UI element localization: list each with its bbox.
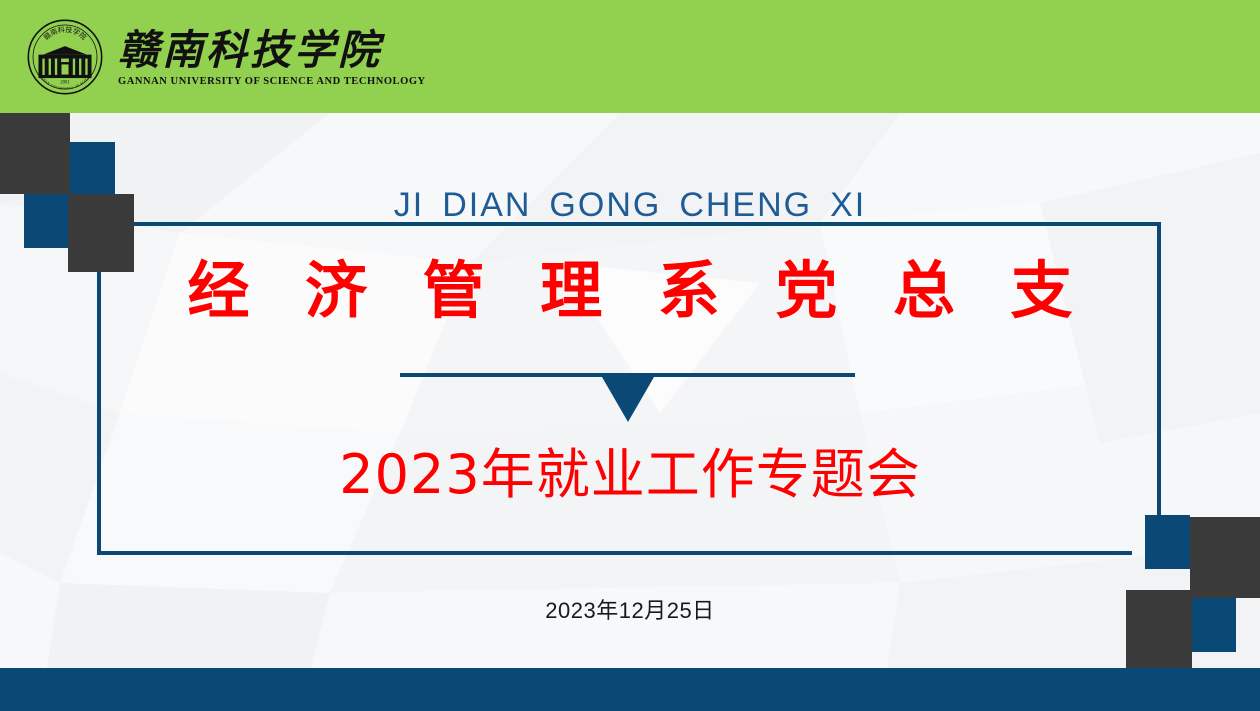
footer-bar [0,668,1260,711]
school-name-cn: 赣南科技学院 [118,30,382,71]
pinyin-word-3: CHENG [679,186,812,224]
pinyin-word-0: JI [394,186,424,224]
school-name-block: 赣南科技学院 GANNAN UNIVERSITY OF SCIENCE AND … [118,30,426,87]
main-title: 经 济 管 理 系 党 总 支 [0,258,1260,325]
presentation-date: 2023年12月25日 [0,593,1260,625]
sub-title: 2023年就业工作专题会 [0,430,1260,509]
presentation-slide: 2001 赣南科技学院 GANNAN UNIVERSITY OF SCIENCE… [0,0,1260,711]
down-triangle-icon [602,377,654,422]
school-logo-group: 2001 赣南科技学院 GANNAN UNIVERSITY OF SCIENCE… [26,18,426,96]
university-seal-icon: 2001 赣南科技学院 GANNAN UNIVERSITY OF SCIENCE [26,18,104,96]
pinyin-word-1: DIAN [442,186,531,224]
svg-text:2001: 2001 [60,81,70,86]
svg-text:赣南科技学院: 赣南科技学院 [42,25,89,42]
header-bar: 2001 赣南科技学院 GANNAN UNIVERSITY OF SCIENCE… [0,0,1260,113]
pinyin-word-2: GONG [549,186,661,224]
school-name-en: GANNAN UNIVERSITY OF SCIENCE AND TECHNOL… [118,76,426,87]
pinyin-subtitle: JIDIANGONGCHENGXI [0,186,1260,225]
pinyin-word-4: XI [830,186,866,224]
